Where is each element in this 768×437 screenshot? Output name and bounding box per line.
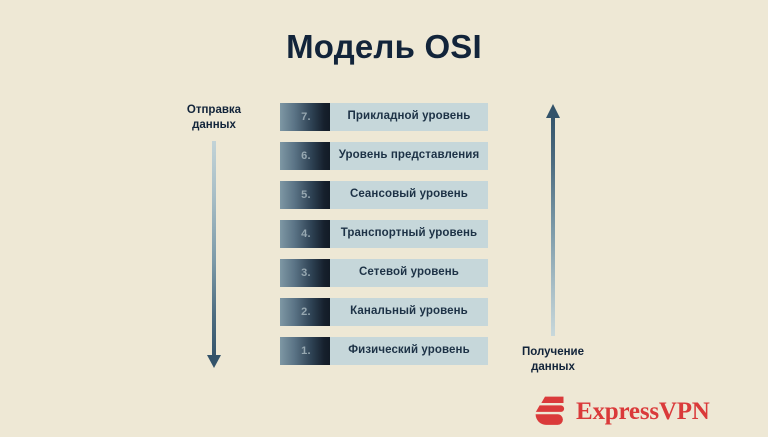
layer-number-badge-7: 7. bbox=[280, 103, 330, 131]
osi-layer-row-1[interactable]: 1. Физический уровень bbox=[280, 337, 488, 365]
expressvpn-e-mark-icon bbox=[533, 394, 567, 428]
layer-number-badge-6: 6. bbox=[280, 142, 330, 170]
layer-number-4: 4. bbox=[299, 229, 311, 240]
receive-data-caption: Получение данных bbox=[493, 345, 613, 375]
layer-number-badge-5: 5. bbox=[280, 181, 330, 209]
layer-number-2: 2. bbox=[299, 307, 311, 318]
osi-layer-row-4[interactable]: 4. Транспортный уровень bbox=[280, 220, 488, 248]
osi-layer-row-6[interactable]: 6. Уровень представления bbox=[280, 142, 488, 170]
layer-number-badge-3: 3. bbox=[280, 259, 330, 287]
page-title: Модель OSI bbox=[0, 28, 768, 66]
layer-number-1: 1. bbox=[299, 346, 311, 357]
layer-label-6: Уровень представления bbox=[339, 150, 480, 162]
receive-data-caption-line2: данных bbox=[531, 361, 575, 373]
layer-number-badge-4: 4. bbox=[280, 220, 330, 248]
layer-body-6: Уровень представления bbox=[330, 142, 488, 170]
layer-label-5: Сеансовый уровень bbox=[350, 189, 468, 201]
osi-layer-row-2[interactable]: 2. Канальный уровень bbox=[280, 298, 488, 326]
layer-number-6: 6. bbox=[299, 151, 311, 162]
layer-body-1: Физический уровень bbox=[330, 337, 488, 365]
expressvpn-logo[interactable]: ExpressVPN bbox=[533, 394, 710, 428]
arrow-up-icon bbox=[493, 100, 613, 375]
receive-data-arrow-group: Получение данных bbox=[493, 100, 613, 375]
layer-label-2: Канальный уровень bbox=[350, 306, 468, 318]
layer-label-7: Прикладной уровень bbox=[348, 111, 471, 123]
layer-body-5: Сеансовый уровень bbox=[330, 181, 488, 209]
layer-number-badge-1: 1. bbox=[280, 337, 330, 365]
layer-label-3: Сетевой уровень bbox=[359, 267, 459, 279]
layer-number-5: 5. bbox=[299, 190, 311, 201]
layer-body-7: Прикладной уровень bbox=[330, 103, 488, 131]
layer-number-7: 7. bbox=[299, 112, 311, 123]
layer-number-3: 3. bbox=[299, 268, 311, 279]
layer-number-badge-2: 2. bbox=[280, 298, 330, 326]
osi-layer-row-7[interactable]: 7. Прикладной уровень bbox=[280, 103, 488, 131]
send-data-arrow-group: Отправка данных bbox=[154, 103, 274, 373]
expressvpn-wordmark: ExpressVPN bbox=[576, 399, 710, 424]
layer-body-3: Сетевой уровень bbox=[330, 259, 488, 287]
osi-layer-row-3[interactable]: 3. Сетевой уровень bbox=[280, 259, 488, 287]
osi-layer-row-5[interactable]: 5. Сеансовый уровень bbox=[280, 181, 488, 209]
layer-label-4: Транспортный уровень bbox=[341, 228, 477, 240]
layer-label-1: Физический уровень bbox=[348, 345, 470, 357]
osi-layer-stack: 7. Прикладной уровень 6. Уровень предста… bbox=[280, 103, 488, 365]
arrow-down-icon bbox=[154, 103, 274, 373]
layer-body-4: Транспортный уровень bbox=[330, 220, 488, 248]
layer-body-2: Канальный уровень bbox=[330, 298, 488, 326]
receive-data-caption-line1: Получение bbox=[522, 346, 584, 358]
